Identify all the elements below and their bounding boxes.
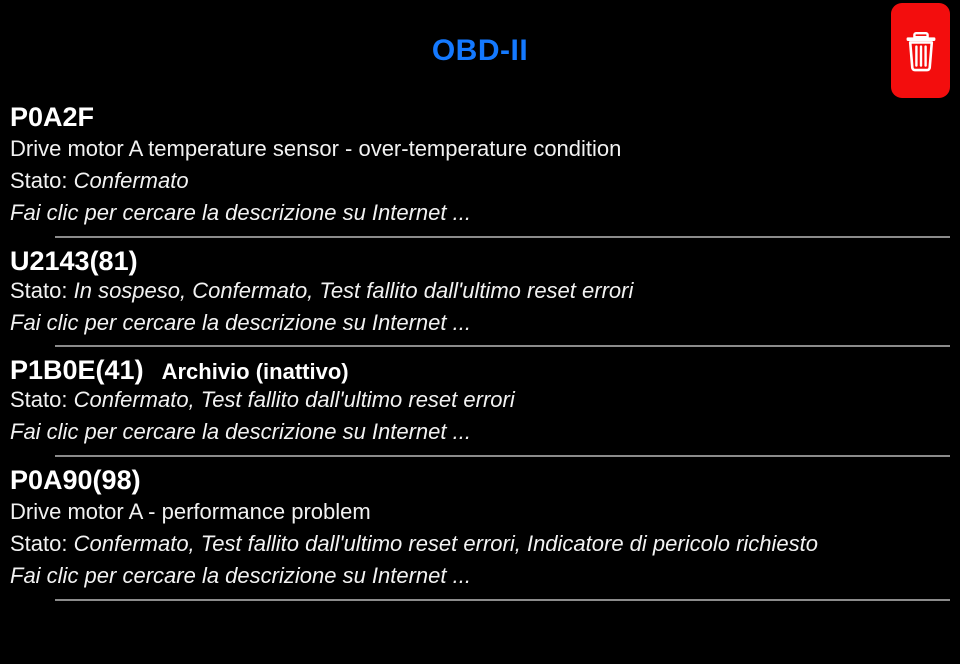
dtc-status: Stato: Confermato	[10, 165, 950, 197]
dtc-search-hint[interactable]: Fai clic per cercare la descrizione su I…	[10, 307, 950, 339]
dtc-list: P0A2F Drive motor A temperature sensor -…	[0, 100, 960, 601]
dtc-status-label: Stato:	[10, 278, 67, 303]
dtc-status-label: Stato:	[10, 531, 67, 556]
header: OBD-II	[0, 0, 960, 100]
dtc-code: P0A90(98)	[10, 467, 141, 494]
dtc-code-row: P0A2F	[10, 100, 950, 131]
dtc-search-hint[interactable]: Fai clic per cercare la descrizione su I…	[10, 416, 950, 448]
obd-ii-screen: OBD-II P0A2	[0, 0, 960, 664]
dtc-code: U2143(81)	[10, 248, 138, 275]
dtc-entry[interactable]: P1B0E(41) Archivio (inattivo) Stato: Con…	[0, 353, 960, 448]
dtc-search-hint[interactable]: Fai clic per cercare la descrizione su I…	[10, 197, 950, 229]
dtc-status-label: Stato:	[10, 168, 67, 193]
dtc-status: Stato: In sospeso, Confermato, Test fall…	[10, 275, 950, 307]
dtc-code-row: U2143(81)	[10, 244, 950, 275]
dtc-description: Drive motor A - performance problem	[10, 494, 950, 528]
dtc-status: Stato: Confermato, Test fallito dall'ult…	[10, 528, 950, 560]
dtc-status-label: Stato:	[10, 387, 67, 412]
list-separator	[55, 599, 950, 601]
dtc-entry[interactable]: P0A90(98) Drive motor A - performance pr…	[0, 463, 960, 592]
list-separator	[55, 345, 950, 347]
dtc-status-value: In sospeso, Confermato, Test fallito dal…	[74, 278, 634, 303]
dtc-entry[interactable]: P0A2F Drive motor A temperature sensor -…	[0, 100, 960, 229]
dtc-entry[interactable]: U2143(81) Stato: In sospeso, Confermato,…	[0, 244, 960, 339]
dtc-description: Drive motor A temperature sensor - over-…	[10, 131, 950, 165]
list-separator	[55, 455, 950, 457]
dtc-status-value: Confermato	[74, 168, 189, 193]
dtc-status-value: Confermato, Test fallito dall'ultimo res…	[74, 531, 818, 556]
dtc-code-row: P0A90(98)	[10, 463, 950, 494]
delete-all-codes-button[interactable]	[891, 3, 950, 98]
dtc-search-hint[interactable]: Fai clic per cercare la descrizione su I…	[10, 560, 950, 592]
dtc-code: P1B0E(41)	[10, 357, 144, 384]
trash-icon	[904, 30, 938, 72]
dtc-code: P0A2F	[10, 104, 94, 131]
list-separator	[55, 236, 950, 238]
page-title: OBD-II	[0, 34, 960, 68]
dtc-status-value: Confermato, Test fallito dall'ultimo res…	[74, 387, 515, 412]
dtc-code-row: P1B0E(41) Archivio (inattivo)	[10, 353, 950, 384]
dtc-archive-badge: Archivio (inattivo)	[162, 361, 349, 383]
dtc-status: Stato: Confermato, Test fallito dall'ult…	[10, 384, 950, 416]
